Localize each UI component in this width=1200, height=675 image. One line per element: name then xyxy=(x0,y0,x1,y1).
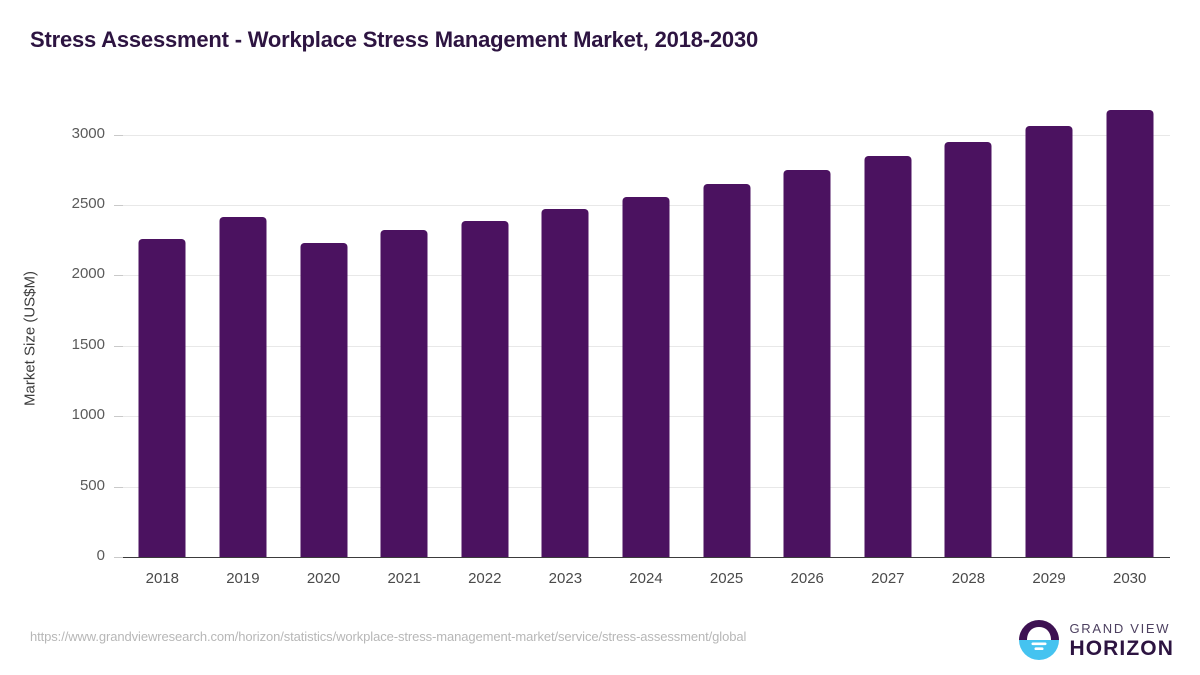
bar[interactable] xyxy=(461,221,508,557)
brand-logo: GRAND VIEW HORIZON xyxy=(1018,618,1174,662)
x-axis-tick-label: 2019 xyxy=(226,570,259,587)
x-axis-tick-label: 2024 xyxy=(629,570,662,587)
bar[interactable] xyxy=(139,239,186,557)
x-axis-tick-label: 2022 xyxy=(468,570,501,587)
x-axis-tick-label: 2029 xyxy=(1032,570,1065,587)
y-axis-tick-label: 500 xyxy=(0,477,105,494)
y-axis-tick-label: 1500 xyxy=(0,336,105,353)
bar-group-2027[interactable]: 2027 xyxy=(848,0,929,600)
horizon-sun-circle-icon xyxy=(1018,619,1060,661)
bar-group-2020[interactable]: 2020 xyxy=(283,0,364,600)
x-axis-tick-label: 2018 xyxy=(146,570,179,587)
x-axis-tick-label: 2025 xyxy=(710,570,743,587)
bar[interactable] xyxy=(219,217,266,557)
bar[interactable] xyxy=(300,243,347,557)
bar[interactable] xyxy=(542,209,589,557)
bar-group-2025[interactable]: 2025 xyxy=(686,0,767,600)
bar-group-2019[interactable]: 2019 xyxy=(203,0,284,600)
bar-group-2030[interactable]: 2030 xyxy=(1089,0,1170,600)
brand-logo-text: GRAND VIEW HORIZON xyxy=(1069,622,1174,659)
bar[interactable] xyxy=(1026,126,1073,557)
bars-layer: 2018201920202021202220232024202520262027… xyxy=(122,0,1170,600)
x-axis-tick-label: 2027 xyxy=(871,570,904,587)
bar[interactable] xyxy=(381,230,428,557)
bar-group-2024[interactable]: 2024 xyxy=(606,0,687,600)
bar[interactable] xyxy=(945,142,992,557)
bar-group-2029[interactable]: 2029 xyxy=(1009,0,1090,600)
bar[interactable] xyxy=(622,197,669,557)
x-axis-tick-label: 2026 xyxy=(791,570,824,587)
source-url[interactable]: https://www.grandviewresearch.com/horizo… xyxy=(30,629,746,644)
chart-plot-area: Market Size (US$M) 050010001500200025003… xyxy=(0,0,1200,600)
bar-group-2022[interactable]: 2022 xyxy=(444,0,525,600)
x-axis-tick-label: 2020 xyxy=(307,570,340,587)
x-axis-tick-label: 2030 xyxy=(1113,570,1146,587)
bar-group-2028[interactable]: 2028 xyxy=(928,0,1009,600)
bar-group-2026[interactable]: 2026 xyxy=(767,0,848,600)
y-axis-tick-label: 2000 xyxy=(0,265,105,282)
bar-group-2018[interactable]: 2018 xyxy=(122,0,203,600)
y-axis-tick-label: 3000 xyxy=(0,125,105,142)
x-axis-tick-label: 2028 xyxy=(952,570,985,587)
bar[interactable] xyxy=(1106,110,1153,557)
y-axis-tick-label: 1000 xyxy=(0,406,105,423)
bar-group-2021[interactable]: 2021 xyxy=(364,0,445,600)
bar-group-2023[interactable]: 2023 xyxy=(525,0,606,600)
brand-logo-top-line: GRAND VIEW xyxy=(1069,622,1174,635)
brand-logo-bottom-line: HORIZON xyxy=(1069,638,1174,659)
y-axis-tick-label: 2500 xyxy=(0,195,105,212)
x-axis-tick-label: 2021 xyxy=(387,570,420,587)
x-axis-tick-label: 2023 xyxy=(549,570,582,587)
chart-page: Stress Assessment - Workplace Stress Man… xyxy=(0,0,1200,675)
bar[interactable] xyxy=(864,156,911,557)
bar[interactable] xyxy=(703,184,750,557)
bar[interactable] xyxy=(784,170,831,557)
y-axis-tick-label: 0 xyxy=(0,547,105,564)
